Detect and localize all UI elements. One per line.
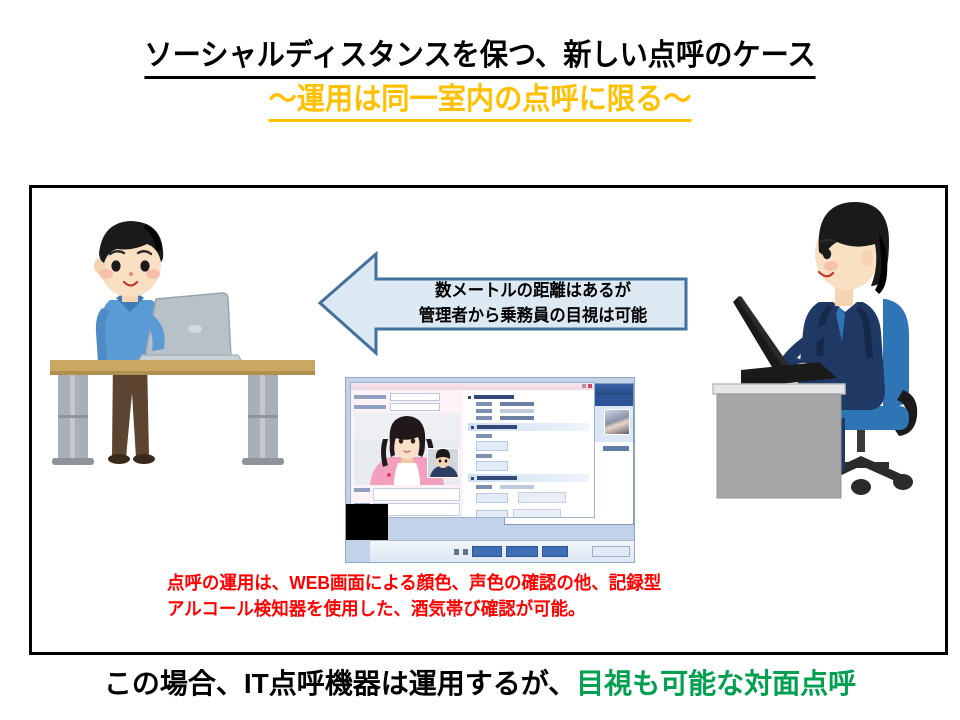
page-title: ソーシャルディスタンスを保つ、新しい点呼のケース ～運用は同一室内の点呼に限る～ (0, 38, 960, 122)
section-header-basic-info (468, 395, 589, 399)
column-header (603, 446, 629, 451)
it-tenko-app-screenshot (346, 378, 634, 562)
record-input[interactable] (513, 509, 561, 518)
arrow-text-line2: 管理者から乗務員の目視は可能 (419, 305, 647, 327)
section-header-record (468, 474, 589, 482)
notes-row[interactable] (354, 488, 460, 501)
close-icon[interactable] (588, 384, 592, 388)
red-caption: 点呼の運用は、WEB画面による顔色、声色の確認の他、記録型 アルコール検知器を使… (167, 570, 807, 622)
title-line-primary: ソーシャルディスタンスを保つ、新しい点呼のケース (144, 38, 815, 79)
title-line-secondary: ～運用は同一室内の点呼に限る～ (269, 82, 692, 123)
field-input[interactable] (390, 393, 440, 401)
prev-page-icon[interactable] (454, 549, 459, 555)
form-pair (468, 485, 589, 489)
toolbar-button-2[interactable] (506, 546, 538, 557)
video-feed-driver (354, 413, 460, 485)
record-button[interactable] (476, 493, 508, 503)
alcohol-check-button[interactable] (476, 441, 508, 451)
arrow-text-line1: 数メートルの距離はあるが (435, 280, 631, 302)
toolbar-button-1[interactable] (472, 546, 502, 557)
section-header-alcohol-check (468, 423, 589, 431)
dialog-body (351, 390, 594, 517)
video-black-area (346, 504, 388, 540)
field-input[interactable] (390, 403, 440, 411)
illustration-seated-driver (707, 194, 937, 504)
bottom-caption: この場合、IT点呼機器は運用するが、目視も可能な対面点呼 (0, 668, 960, 700)
minimize-icon[interactable] (582, 384, 586, 388)
video-call-panel (351, 390, 463, 517)
form-row (468, 492, 589, 503)
roll-call-form-panel (463, 390, 594, 517)
video-feed-pip-manager[interactable] (427, 448, 459, 478)
arrow-callout-text: 数メートルの距離はあるが 管理者から乗務員の目視は可能 (384, 251, 682, 356)
bottom-caption-green: 目視も可能な対面点呼 (576, 668, 856, 699)
toolbar-button-3[interactable] (542, 546, 568, 557)
measurement-button[interactable] (476, 461, 508, 471)
form-row (468, 509, 589, 518)
illustration-standing-manager (50, 208, 315, 498)
red-caption-line2: アルコール検知器を使用した、酒気帯び確認が可能。 (167, 596, 807, 622)
bg-window-person-photo (604, 409, 630, 435)
form-pair (468, 454, 589, 458)
record-button[interactable] (476, 510, 508, 519)
bottom-caption-black: この場合、IT点呼機器は運用するが、 (104, 668, 576, 699)
dialog-titlebar (351, 383, 594, 390)
record-input[interactable] (518, 492, 566, 503)
field-label (354, 395, 386, 399)
next-page-icon[interactable] (463, 549, 468, 555)
form-field[interactable] (354, 403, 460, 411)
title-line1-row: ソーシャルディスタンスを保つ、新しい点呼のケース (0, 38, 960, 79)
form-pair (468, 434, 589, 438)
distance-arrow-callout: 数メートルの距離はあるが 管理者から乗務員の目視は可能 (318, 251, 688, 356)
form-field[interactable] (354, 393, 460, 401)
toolbar-button-right[interactable] (592, 546, 630, 557)
app-foreground-dialog (350, 382, 595, 518)
title-line2-row: ～運用は同一室内の点呼に限る～ (0, 79, 960, 123)
app-bottom-toolbar (370, 540, 634, 562)
field-label (354, 405, 386, 409)
form-pair (468, 402, 589, 406)
form-pair (468, 416, 589, 420)
window-controls (582, 384, 592, 388)
notes-textbox[interactable] (373, 488, 460, 501)
notes-label (354, 488, 370, 492)
red-caption-line1: 点呼の運用は、WEB画面による顔色、声色の確認の他、記録型 (167, 570, 807, 596)
diagram-frame: 数メートルの距離はあるが 管理者から乗務員の目視は可能 (29, 185, 948, 655)
form-pair (468, 409, 589, 413)
